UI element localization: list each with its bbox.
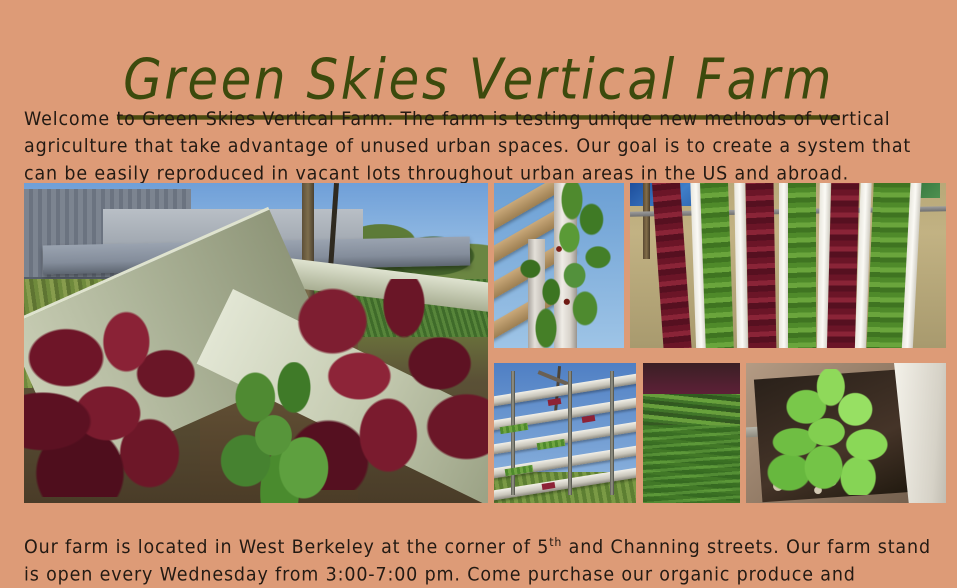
footer-text-part1: Our farm is located in West Berkeley at …: [24, 537, 549, 558]
photo-tiered-rack: [494, 363, 636, 503]
photo-strawberry-tower-scene: [494, 183, 624, 348]
rack-frame: [568, 371, 572, 494]
rack-frame: [511, 371, 515, 494]
frilly-lettuce-plant: [766, 369, 910, 495]
lettuce-row-green: [788, 183, 816, 348]
photo-wheatgrass: [643, 363, 740, 503]
lettuce-row-red: [745, 183, 777, 348]
wheatgrass-blades-front: [643, 425, 740, 503]
strawberry-plants: [219, 362, 340, 503]
photo-frilly-lettuce-scene: [746, 363, 946, 503]
photo-lettuce-rows-scene: [630, 183, 946, 348]
photo-frilly-lettuce: [746, 363, 946, 503]
photo-lettuce-rows: [630, 183, 946, 348]
photo-lettuce-bed: [24, 183, 488, 503]
photo-lettuce-bed-scene: [24, 183, 488, 503]
rack-frame: [610, 371, 614, 494]
photo-tiered-rack-scene: [494, 363, 636, 503]
strawberry-foliage: [494, 183, 624, 348]
photo-strawberry-tower: [494, 183, 624, 348]
ordinal-suffix: th: [549, 535, 562, 549]
support-post: [643, 183, 650, 259]
footer-paragraph: Our farm is located in West Berkeley at …: [24, 529, 936, 588]
photo-wheatgrass-scene: [643, 363, 740, 503]
photo-gallery: [0, 0, 957, 566]
red-lettuce-left: [24, 298, 247, 496]
farm-homepage: Green Skies Vertical Farm Welcome to Gre…: [0, 0, 957, 566]
